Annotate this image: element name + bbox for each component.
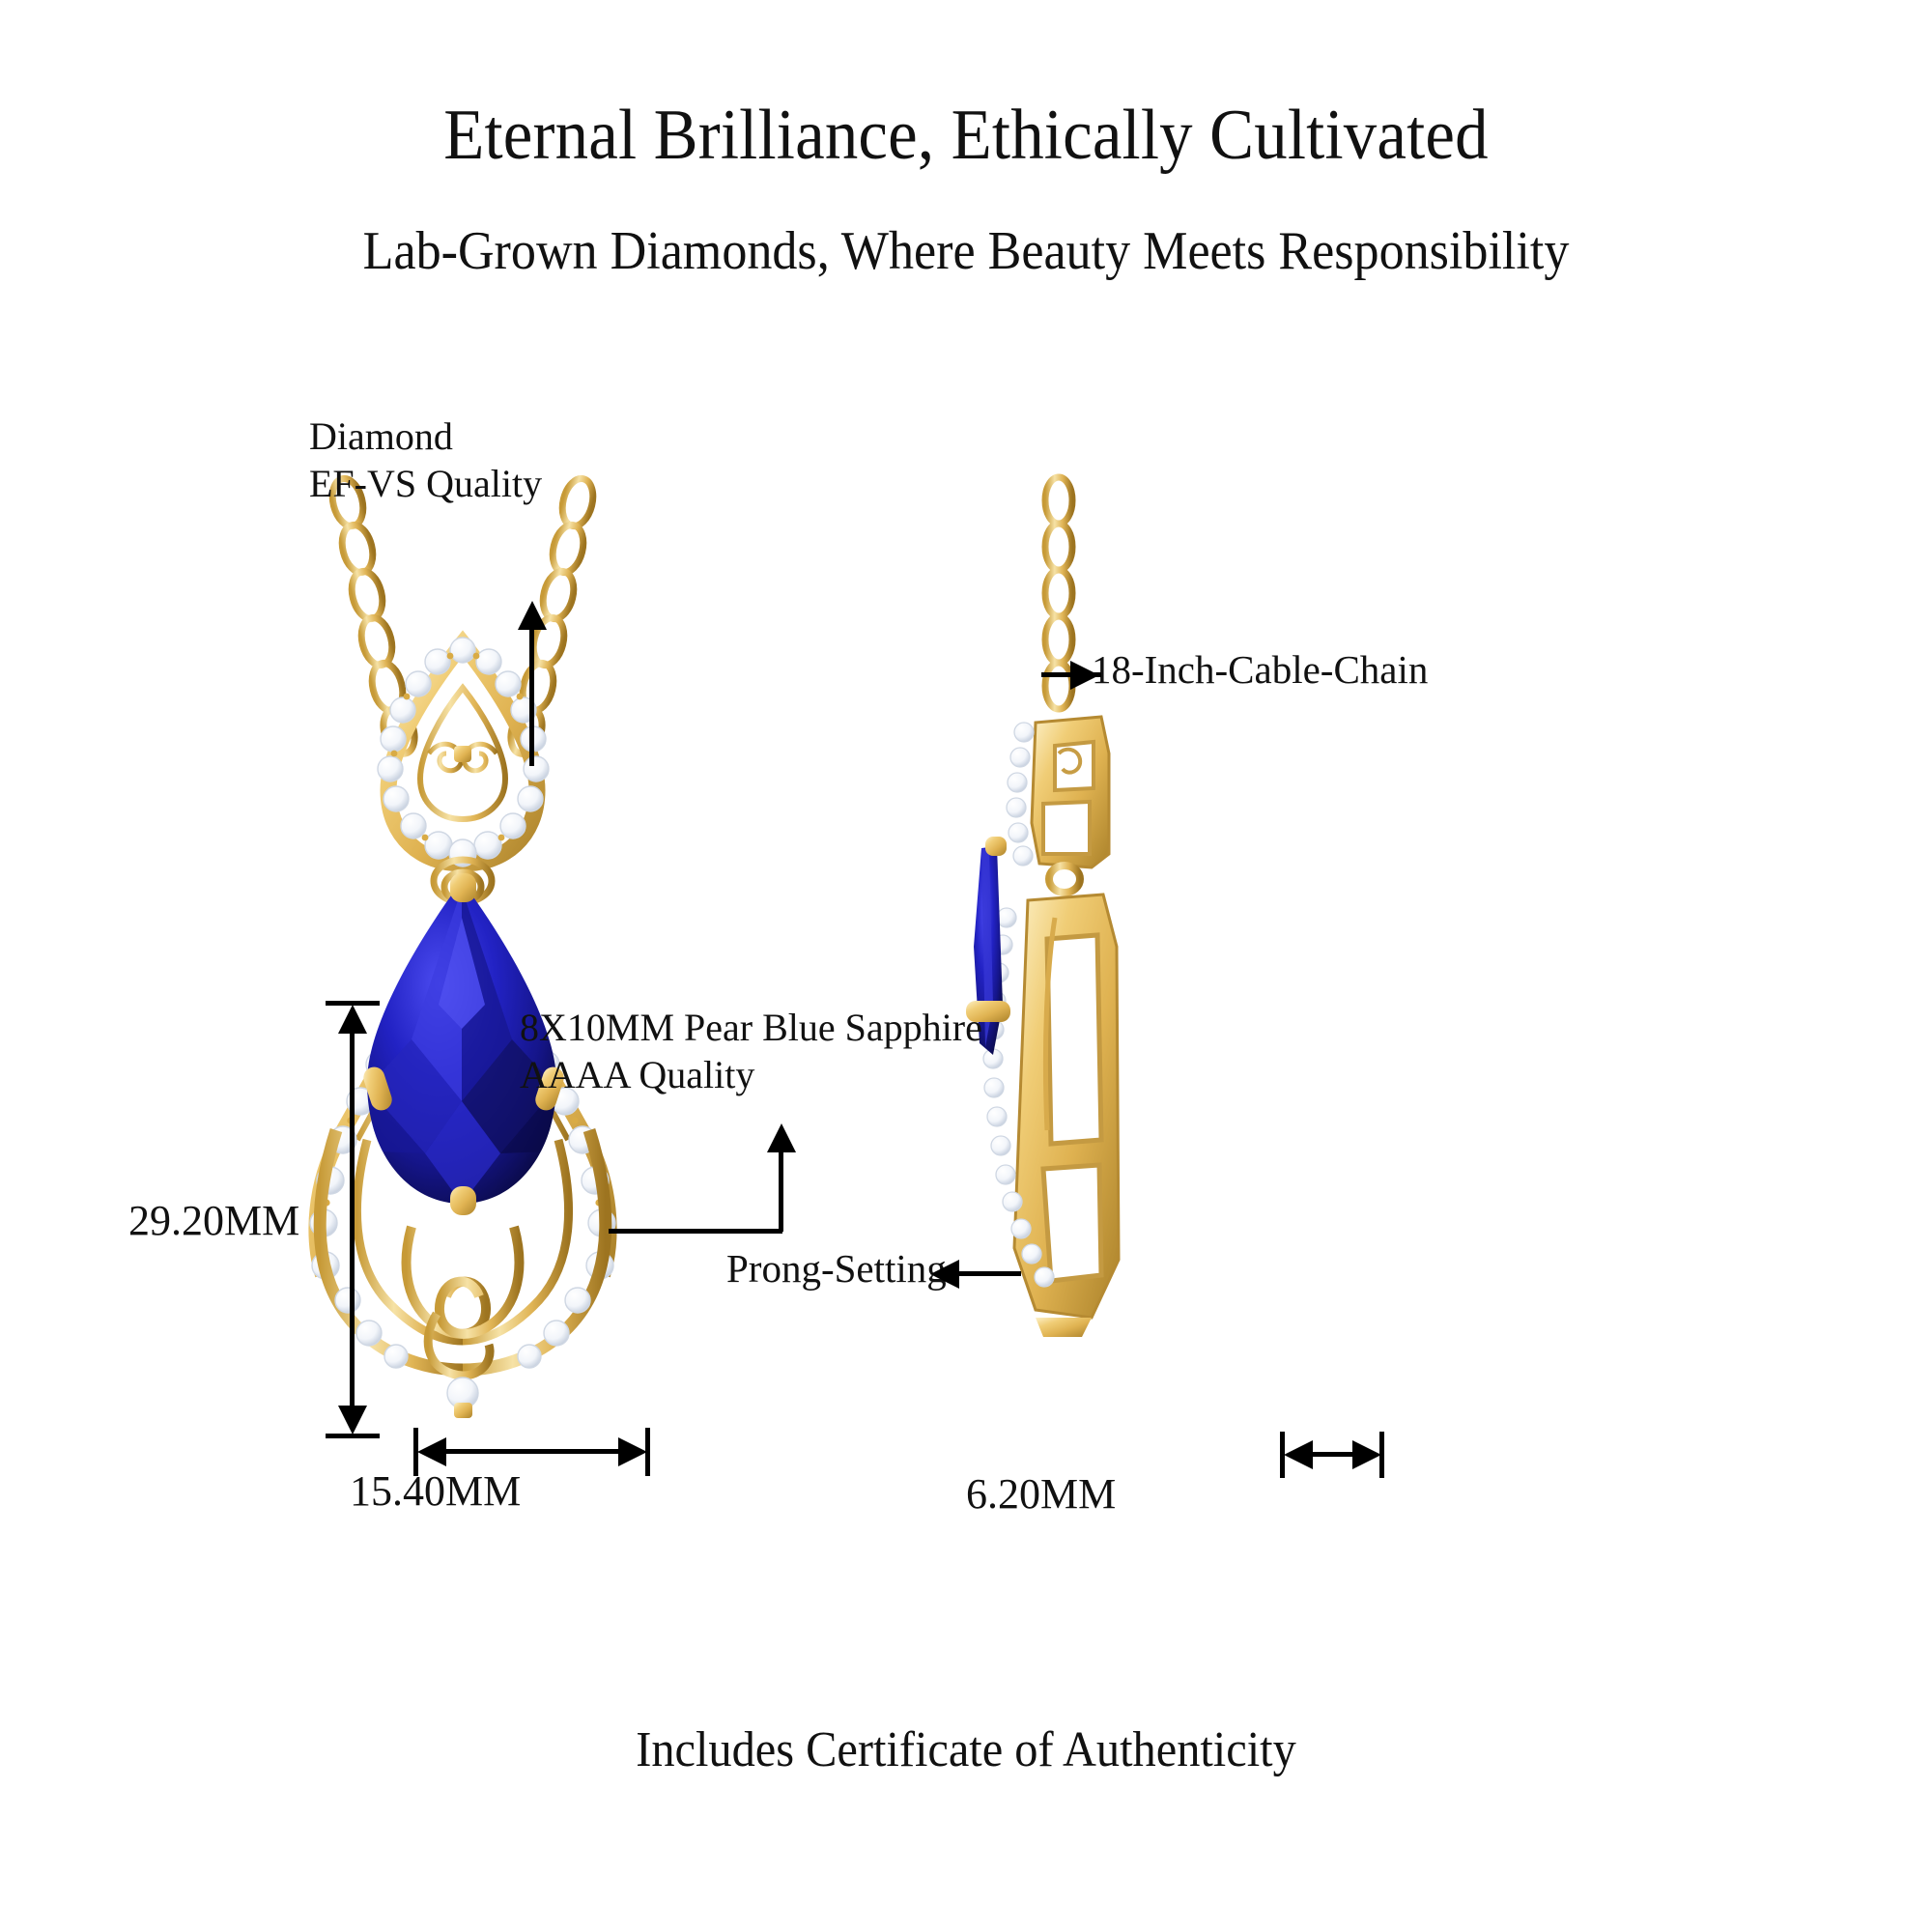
product-spec-canvas: Eternal Brilliance, Ethically Cultivated…	[0, 0, 1932, 1932]
side-view-pendant	[947, 464, 1352, 1507]
bail	[378, 638, 549, 867]
dim-height-arrow-top	[338, 1005, 367, 1034]
page-subtitle: Lab-Grown Diamonds, Where Beauty Meets R…	[68, 220, 1864, 282]
callout-chain-label: 18-Inch-Cable-Chain	[1092, 645, 1428, 694]
leader-sapphire-vline	[779, 1150, 783, 1232]
dim-width-arrow-right	[618, 1437, 647, 1466]
dim-height-arrow-bottom	[338, 1406, 367, 1435]
callout-diamond-label: Diamond EF-VS Quality	[309, 413, 542, 508]
leader-sapphire-hline	[609, 1229, 782, 1234]
dim-depth-value: 6.20MM	[966, 1469, 1116, 1519]
certificate-note: Includes Certificate of Authenticity	[68, 1721, 1864, 1778]
dim-width-arrow-left	[417, 1437, 446, 1466]
leader-chain-arrowhead	[1070, 661, 1099, 690]
dim-width-line	[425, 1449, 639, 1454]
dim-depth-arrow-left	[1284, 1440, 1313, 1469]
dim-height-value: 29.20MM	[128, 1196, 299, 1245]
leader-prong-arrowhead	[930, 1260, 959, 1289]
leader-diamond-line	[529, 626, 534, 766]
side-bail	[1007, 717, 1109, 867]
callout-prong-label: Prong-Setting	[726, 1244, 947, 1293]
callout-sapphire-label: 8X10MM Pear Blue Sapphire AAAA Quality	[520, 1005, 982, 1099]
dim-width-value: 15.40MM	[350, 1466, 521, 1516]
dim-depth-arrow-right	[1352, 1440, 1381, 1469]
side-frame	[983, 895, 1119, 1318]
dim-height-line	[350, 1014, 355, 1425]
leader-sapphire-arrowhead	[767, 1123, 796, 1152]
page-title: Eternal Brilliance, Ethically Cultivated	[68, 95, 1864, 177]
leader-diamond-arrowhead	[518, 601, 547, 630]
